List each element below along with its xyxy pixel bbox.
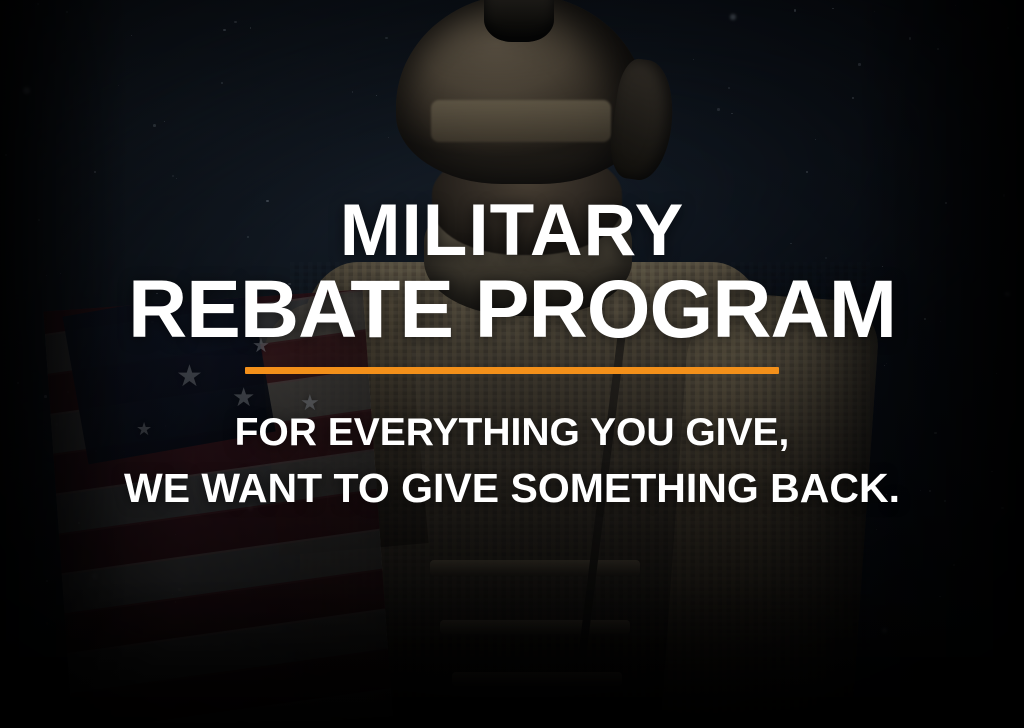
orange-divider (245, 367, 779, 374)
headline-line-2: REBATE PROGRAM (128, 271, 896, 349)
subheadline-line-1: FOR EVERYTHING YOU GIVE, (124, 408, 900, 458)
banner-content: MILITARY REBATE PROGRAM FOR EVERYTHING Y… (0, 0, 1024, 728)
subheadline-line-2: WE WANT TO GIVE SOMETHING BACK. (124, 462, 900, 514)
military-rebate-banner: ★★★★★ MILITARY REBATE PROGRAM FOR EVERYT… (0, 0, 1024, 728)
headline-line-1: MILITARY (128, 196, 896, 265)
subheadline: FOR EVERYTHING YOU GIVE, WE WANT TO GIVE… (124, 408, 900, 514)
headline: MILITARY REBATE PROGRAM (128, 196, 896, 349)
